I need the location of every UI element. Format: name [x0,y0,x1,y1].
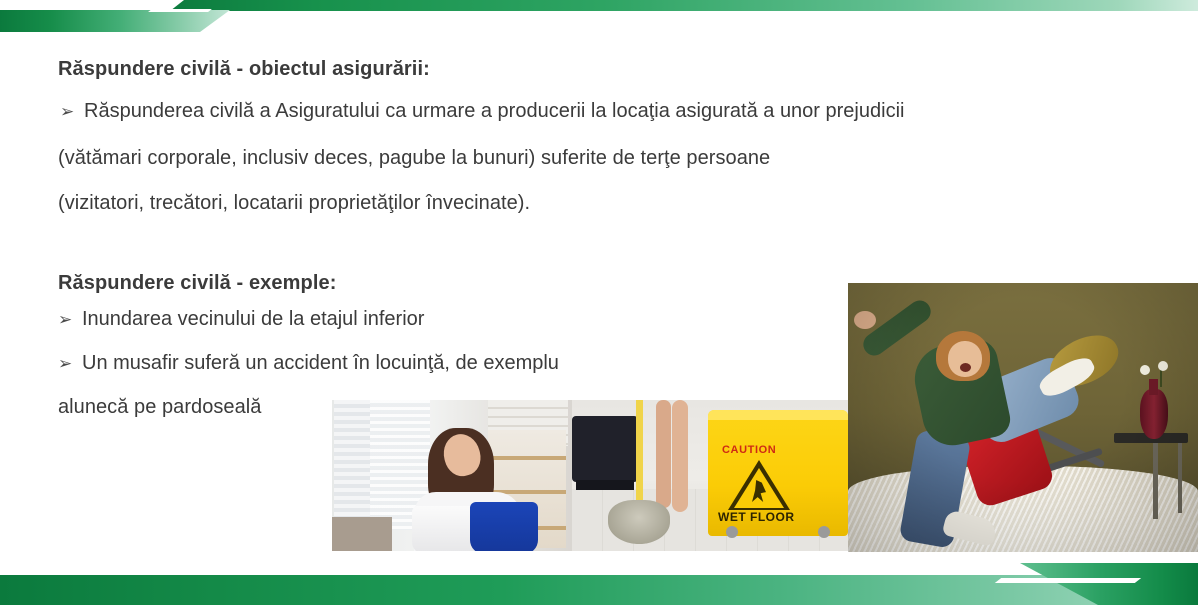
section2-bullet-1-text: Inundarea vecinului de la etajul inferio… [82,308,424,331]
fall-vignette [848,283,1198,552]
wet-person-leg-right [672,400,688,512]
bucket-wheel [818,526,830,538]
caution-bucket: CAUTION WET FLOOR [708,410,848,536]
header-decoration [0,0,1198,32]
mop-head-icon [608,500,670,544]
water-leak-photo [332,400,572,551]
header-green-band-bottom [0,10,230,32]
section1-line-3: (vizitatori, trecători, locatarii propri… [58,192,530,215]
wet-person-leg-left [656,400,671,508]
section1-heading: Răspundere civilă - obiectul asigurării: [58,58,430,81]
section1-bullet: ➢ Răspunderea civilă a Asiguratului ca u… [60,100,904,123]
section2-heading: Răspundere civilă - exemple: [58,272,336,295]
arrow-bullet-icon: ➢ [58,310,82,330]
arrow-bullet-icon: ➢ [60,102,84,122]
leak-sofa [332,517,392,551]
bucket-rim [708,410,848,420]
mop-handle [636,400,643,508]
header-green-band-top [170,0,1198,11]
arrow-bullet-icon: ➢ [58,354,82,374]
section1-bullet-text: Răspunderea civilă a Asiguratului ca urm… [84,100,904,123]
wet-floor-photo: CAUTION WET FLOOR [572,400,848,551]
wet-floor-label: WET FLOOR [718,510,795,524]
section2-bullet-1: ➢ Inundarea vecinului de la etajul infer… [58,308,424,331]
header-diagonal-gap [148,9,212,12]
falling-woman-photo [848,283,1198,552]
bucket-wheel [726,526,738,538]
slide: Răspundere civilă - obiectul asigurării:… [0,0,1198,605]
footer-diagonal-gap [995,578,1141,583]
leak-white-bucket [412,506,478,551]
caution-label: CAUTION [722,444,776,456]
leak-blue-bucket [470,502,538,551]
section2-bullet-2-text: Un musafir suferă un accident în locuinţ… [82,352,559,375]
footer-decoration [0,563,1198,605]
wet-dark-sofa [572,416,638,482]
section2-bullet-2: ➢ Un musafir suferă un accident în locui… [58,352,559,375]
section2-line-3: alunecă pe pardoseală [58,396,261,419]
section1-line-2: (vătămari corporale, inclusiv deces, pag… [58,147,770,170]
